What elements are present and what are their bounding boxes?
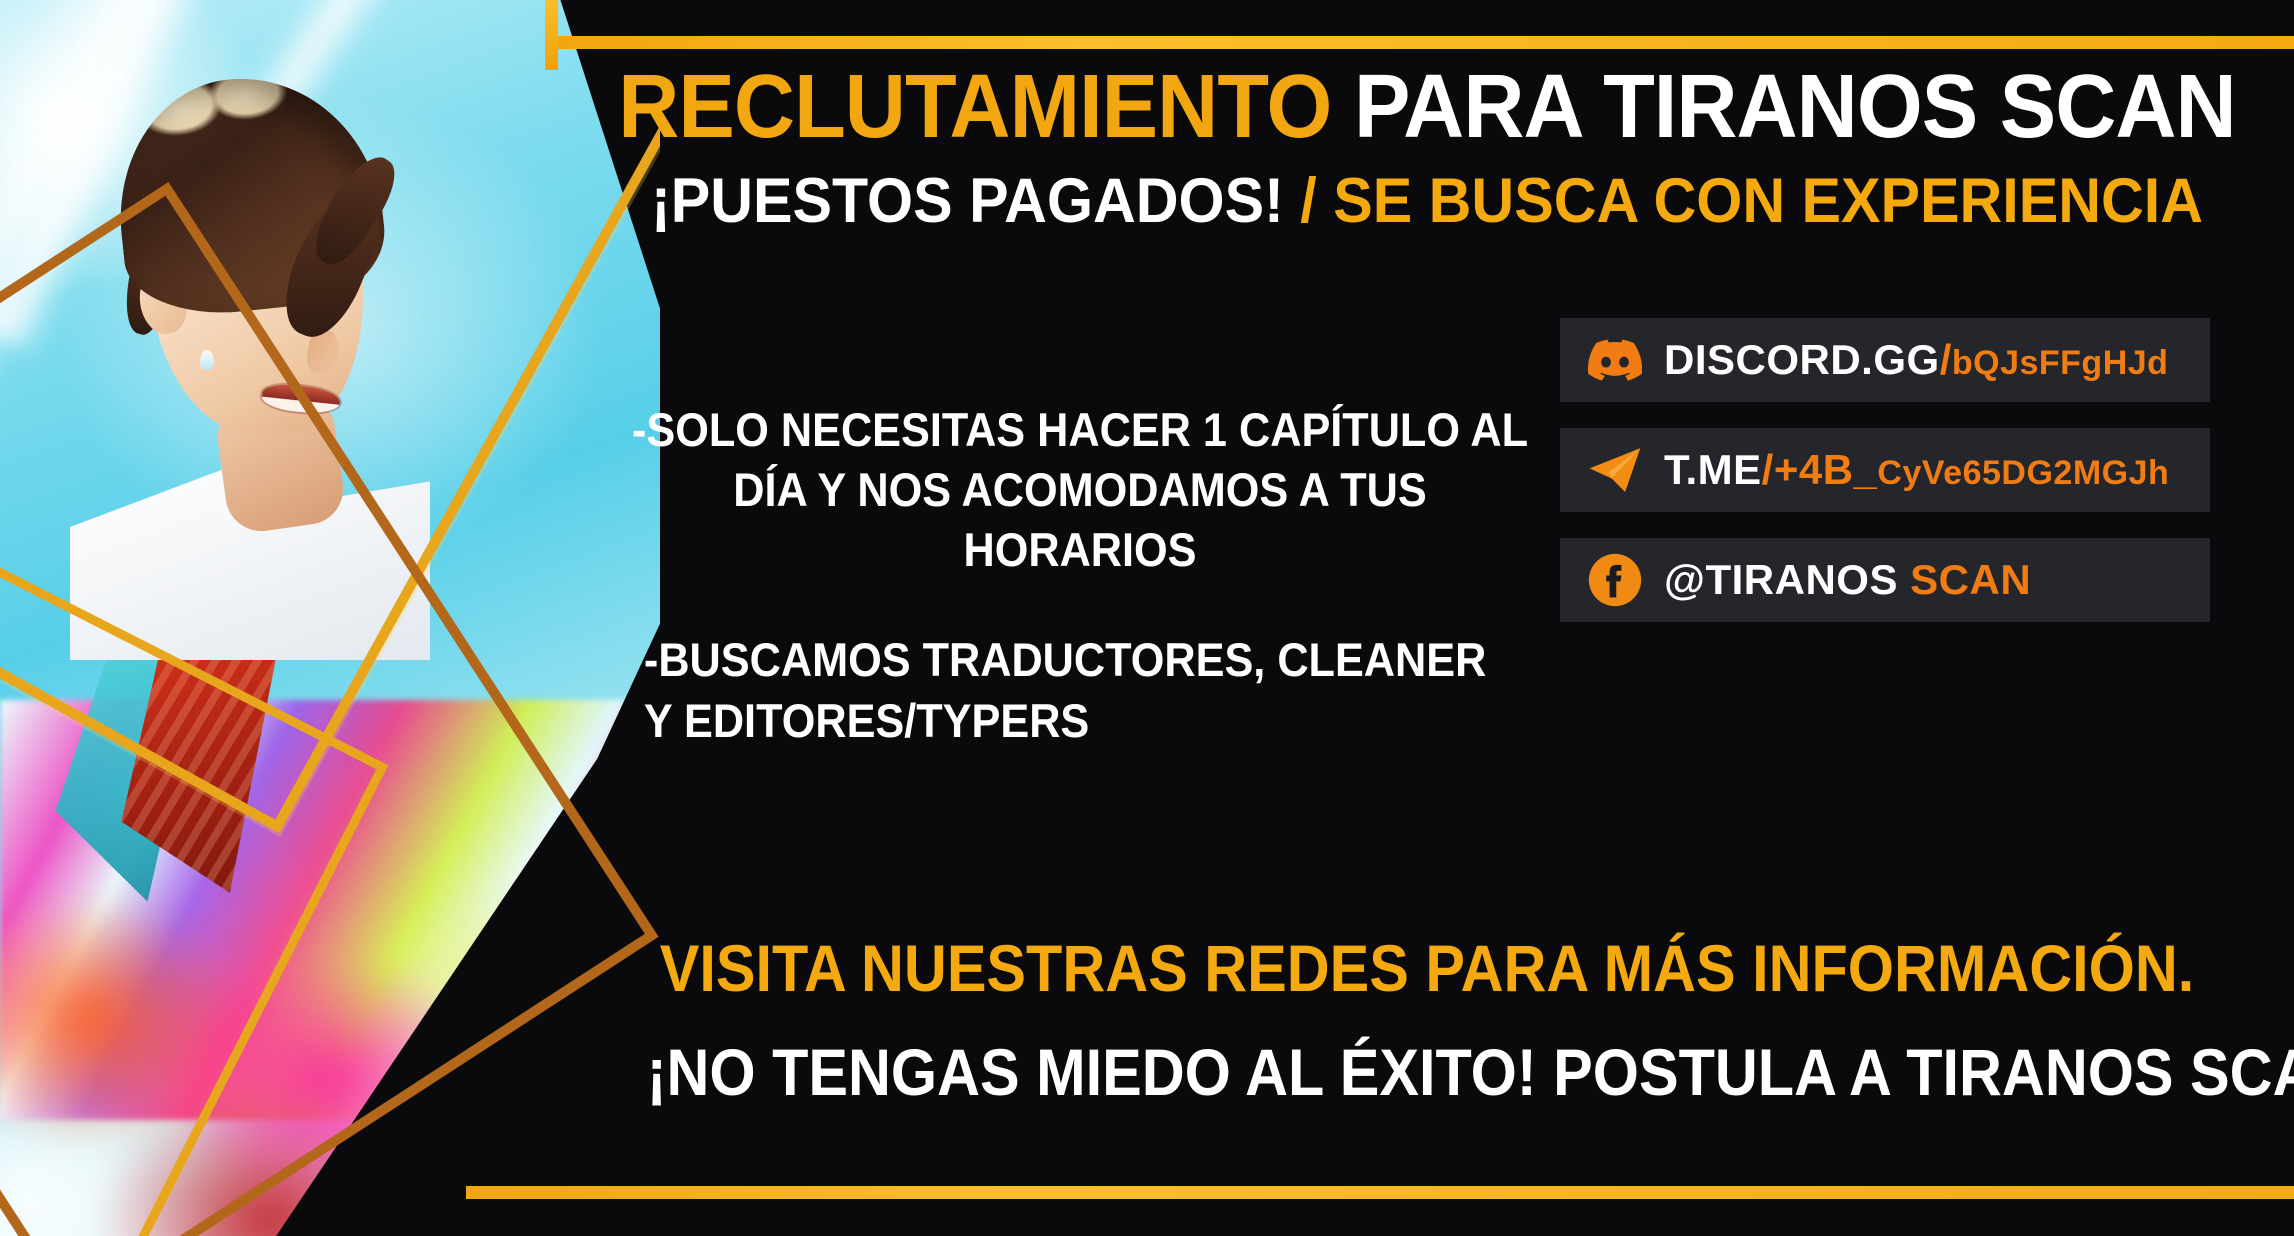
telegram-invite-code: CyVe65DG2MGJh [1877, 454, 2169, 492]
discord-domain: DISCORD.GG [1664, 336, 1940, 383]
bullet-line: Y EDITORES/TYPERS [644, 691, 1540, 751]
telegram-prefix: /+4B_ [1762, 446, 1878, 493]
bullet-line: -BUSCAMOS TRADUCTORES, CLEANER [644, 630, 1540, 690]
bullet-roles: -BUSCAMOS TRADUCTORES, CLEANER Y EDITORE… [620, 630, 1540, 750]
discord-invite-code: bQJsFFgHJd [1952, 344, 2169, 382]
facebook-handle-suffix: SCAN [1910, 556, 2031, 603]
contact-telegram[interactable]: T.ME/+4B_CyVe65DG2MGJh [1560, 428, 2210, 512]
contact-list: DISCORD.GG/bQJsFFgHJd T.ME/+4B_CyVe65DG2… [1560, 318, 2210, 648]
footer-line-1: VISITA NUESTRAS REDES PARA MÁS INFORMACI… [647, 935, 2208, 1001]
facebook-icon [1588, 553, 1642, 607]
contact-telegram-label: T.ME/+4B_CyVe65DG2MGJh [1664, 446, 2169, 494]
contact-discord-label: DISCORD.GG/bQJsFFgHJd [1664, 336, 2168, 384]
title-highlight: RECLUTAMIENTO [618, 57, 1331, 157]
recruitment-banner: RECLUTAMIENTO PARA TIRANOS SCAN ¡PUESTOS… [0, 0, 2294, 1236]
title-rest: PARA TIRANOS SCAN [1354, 57, 2236, 157]
contact-discord[interactable]: DISCORD.GG/bQJsFFgHJd [1560, 318, 2210, 402]
footer-block: VISITA NUESTRAS REDES PARA MÁS INFORMACI… [647, 935, 2208, 1105]
telegram-domain: T.ME [1664, 446, 1762, 493]
facebook-handle: @TIRANOS [1664, 556, 1898, 603]
bullet-line: -SOLO NECESITAS HACER 1 CAPÍTULO AL [620, 400, 1540, 460]
footer-line-2: ¡NO TENGAS MIEDO AL ÉXITO! POSTULA A TIR… [647, 1039, 2208, 1105]
contact-facebook[interactable]: @TIRANOS SCAN [1560, 538, 2210, 622]
bullet-schedule: -SOLO NECESITAS HACER 1 CAPÍTULO AL DÍA … [620, 400, 1540, 580]
subtitle: ¡PUESTOS PAGADOS! / SE BUSCA CON EXPERIE… [612, 170, 2242, 233]
subtitle-paid: ¡PUESTOS PAGADOS! [651, 166, 1284, 236]
contact-facebook-label: @TIRANOS SCAN [1664, 556, 2031, 604]
content-area: RECLUTAMIENTO PARA TIRANOS SCAN ¡PUESTOS… [560, 0, 2294, 1236]
subtitle-experience: / SE BUSCA CON EXPERIENCIA [1300, 166, 2203, 236]
requirements-list: -SOLO NECESITAS HACER 1 CAPÍTULO AL DÍA … [620, 400, 1540, 751]
page-title: RECLUTAMIENTO PARA TIRANOS SCAN [612, 62, 2242, 152]
discord-icon [1588, 333, 1642, 387]
bullet-line: DÍA Y NOS ACOMODAMOS A TUS HORARIOS [620, 460, 1540, 580]
gold-vertical-accent [545, 0, 558, 70]
telegram-icon [1588, 443, 1642, 497]
sweat-drop [200, 350, 214, 370]
discord-slash: / [1940, 336, 1952, 383]
